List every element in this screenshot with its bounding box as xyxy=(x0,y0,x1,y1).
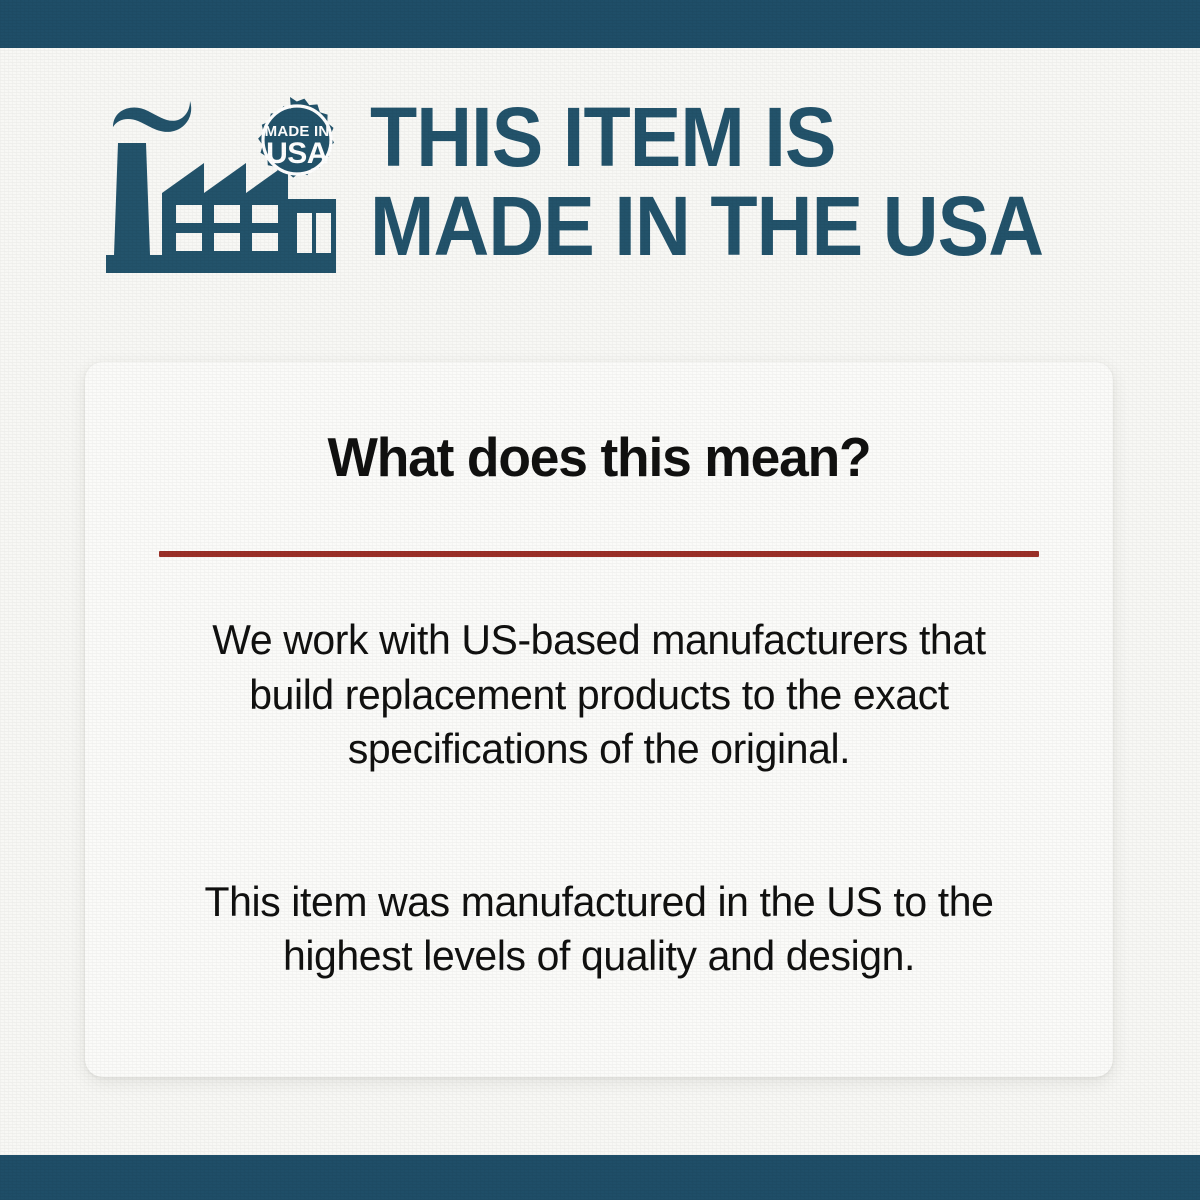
card-paragraph-1: We work with US-based manufacturers that… xyxy=(175,613,1023,777)
page-header: MADE IN USA THIS ITEM IS MADE IN THE USA xyxy=(0,95,1200,295)
info-card: What does this mean? We work with US-bas… xyxy=(85,362,1113,1077)
page-title-line-1: THIS ITEM IS xyxy=(370,97,1043,178)
badge-usa-label: USA xyxy=(266,137,328,170)
chimney-shape xyxy=(114,143,150,255)
page-title: THIS ITEM IS MADE IN THE USA xyxy=(370,97,1102,266)
top-accent-band xyxy=(0,0,1200,48)
card-divider xyxy=(159,551,1039,557)
factory-base-shape xyxy=(106,255,336,273)
page-title-line-2: MADE IN THE USA xyxy=(370,186,1043,267)
made-in-usa-badge-icon: MADE IN USA xyxy=(258,97,334,178)
bottom-accent-band xyxy=(0,1155,1200,1200)
card-heading: What does this mean? xyxy=(100,425,1097,489)
smoke-plume-shape xyxy=(113,101,191,132)
card-paragraph-2: This item was manufactured in the US to … xyxy=(175,875,1023,984)
factory-icon: MADE IN USA xyxy=(100,95,348,287)
